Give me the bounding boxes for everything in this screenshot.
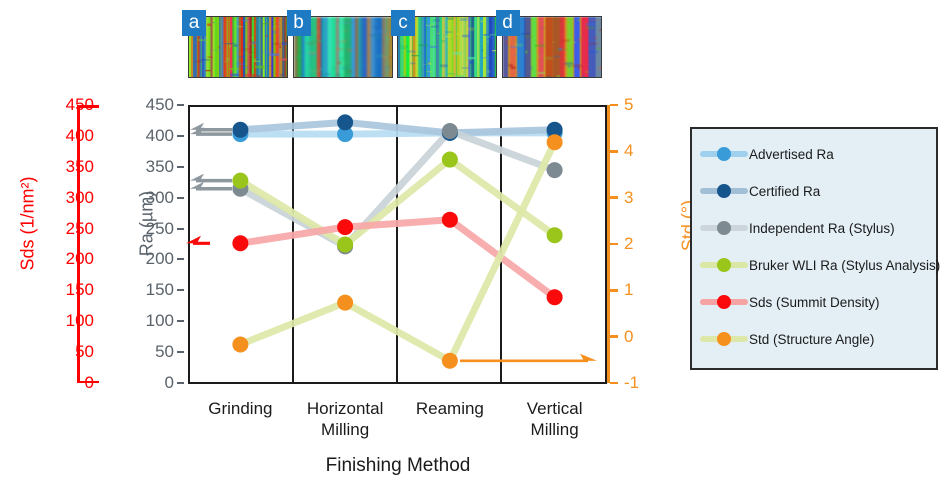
ra-tick-label: 200 (128, 250, 174, 267)
legend-marker-dot-icon (717, 184, 731, 198)
series-line-4 (240, 220, 554, 298)
legend-item-2[interactable]: Independent Ra (Stylus) (700, 217, 895, 239)
ra-tick-label: 0 (128, 374, 174, 391)
x-axis-title: Finishing Method (248, 455, 548, 477)
std-tick-label: 2 (624, 235, 664, 252)
series-marker (232, 173, 248, 189)
ra-tick-mark (177, 197, 184, 199)
series-line-3 (240, 160, 554, 245)
sds-tick-label: 350 (34, 158, 94, 175)
series-marker (442, 123, 458, 139)
std-tick-label: -1 (624, 374, 664, 391)
legend-label: Sds (Summit Density) (749, 295, 880, 310)
legend-swatch-icon (700, 143, 748, 165)
series-marker (547, 227, 563, 243)
legend-swatch-icon (700, 328, 748, 350)
thumbnail-tag-b: b (287, 10, 311, 36)
x-tick-line: Milling (490, 419, 620, 440)
axis-pointer-arrow-left (190, 174, 232, 181)
legend-item-1[interactable]: Certified Ra (700, 180, 820, 202)
legend-marker-dot-icon (717, 221, 731, 235)
series-marker (337, 237, 353, 253)
series-marker (547, 289, 563, 305)
chart-legend: Advertised RaCertified RaIndependent Ra … (690, 127, 938, 370)
std-axis-pointer-arrow (460, 354, 597, 361)
ra-tick-label: 450 (128, 96, 174, 113)
legend-swatch-icon (700, 180, 748, 202)
axis-pointer-arrow-left (190, 123, 232, 130)
sds-tick-label: 50 (34, 343, 94, 360)
series-marker (232, 235, 248, 251)
std-tick-label: 3 (624, 189, 664, 206)
x-tick-line: Milling (280, 419, 410, 440)
legend-swatch-icon (700, 254, 748, 276)
legend-item-0[interactable]: Advertised Ra (700, 143, 834, 165)
series-marker (442, 212, 458, 228)
x-tick-line: Vertical (490, 398, 620, 419)
ra-tick-label: 400 (128, 127, 174, 144)
std-tick-mark (610, 196, 618, 199)
series-line-5 (240, 142, 554, 361)
plot-series-layer (188, 105, 607, 384)
series-marker (442, 353, 458, 369)
x-tick-label-3: VerticalMilling (490, 398, 620, 440)
std-tick-mark (610, 243, 618, 246)
legend-marker-dot-icon (717, 258, 731, 272)
legend-swatch-icon (700, 291, 748, 313)
series-line-2 (240, 131, 554, 246)
sds-tick-label: 300 (34, 189, 94, 206)
legend-label: Bruker WLI Ra (Stylus Analysis) (749, 258, 940, 273)
legend-item-4[interactable]: Sds (Summit Density) (700, 291, 880, 313)
sds-tick-label: 200 (34, 250, 94, 267)
ra-tick-label: 250 (128, 220, 174, 237)
legend-label: Advertised Ra (749, 147, 834, 162)
ra-tick-mark (177, 351, 184, 353)
legend-label: Certified Ra (749, 184, 820, 199)
series-marker (442, 152, 458, 168)
ra-tick-mark (177, 289, 184, 291)
axis-pointer-arrow-left (190, 182, 232, 189)
std-tick-label: 4 (624, 142, 664, 159)
ra-tick-label: 350 (128, 158, 174, 175)
ra-tick-mark (177, 228, 184, 230)
std-tick-label: 5 (624, 96, 664, 113)
ra-tick-label: 150 (128, 281, 174, 298)
ra-tick-mark (177, 166, 184, 168)
legend-marker-dot-icon (717, 147, 731, 161)
std-tick-mark (610, 104, 618, 107)
sds-tick-label: 0 (34, 374, 94, 391)
ra-tick-mark (177, 320, 184, 322)
ra-tick-label: 100 (128, 312, 174, 329)
series-marker (547, 134, 563, 150)
legend-item-5[interactable]: Std (Structure Angle) (700, 328, 874, 350)
sds-tick-label: 450 (34, 96, 94, 113)
thumbnail-tag-a: a (182, 10, 206, 36)
ra-tick-mark (177, 258, 184, 260)
ra-tick-mark (177, 382, 184, 384)
legend-label: Independent Ra (Stylus) (749, 221, 895, 236)
sds-tick-label: 150 (34, 281, 94, 298)
legend-marker-dot-icon (717, 295, 731, 309)
ra-tick-label: 50 (128, 343, 174, 360)
sds-axis: Sds (1/nm²) 050100150200250300350400450 (0, 95, 120, 395)
std-tick-label: 0 (624, 328, 664, 345)
std-tick-label: 1 (624, 281, 664, 298)
ra-tick-mark (177, 104, 184, 106)
std-tick-mark (610, 150, 618, 153)
series-marker (337, 295, 353, 311)
series-marker (232, 336, 248, 352)
series-marker (547, 162, 563, 178)
std-axis: Std (°) -1012345 (607, 95, 687, 395)
legend-label: Std (Structure Angle) (749, 332, 874, 347)
series-marker (337, 114, 353, 130)
std-tick-mark (610, 289, 618, 292)
thumbnail-tag-c: c (391, 10, 415, 36)
std-tick-mark (610, 335, 618, 338)
legend-marker-dot-icon (717, 332, 731, 346)
sds-axis-pointer-arrow (186, 236, 210, 244)
ra-tick-mark (177, 135, 184, 137)
series-marker (337, 219, 353, 235)
ra-axis: Ra (µm) 050100150200250300350400450 (130, 95, 190, 395)
ra-tick-label: 300 (128, 189, 174, 206)
series-marker (232, 122, 248, 138)
legend-swatch-icon (700, 217, 748, 239)
sds-tick-label: 100 (34, 312, 94, 329)
sds-tick-label: 250 (34, 220, 94, 237)
sds-tick-label: 400 (34, 127, 94, 144)
thumbnail-tag-d: d (496, 10, 520, 36)
std-tick-mark (610, 382, 618, 385)
legend-item-3[interactable]: Bruker WLI Ra (Stylus Analysis) (700, 254, 940, 276)
